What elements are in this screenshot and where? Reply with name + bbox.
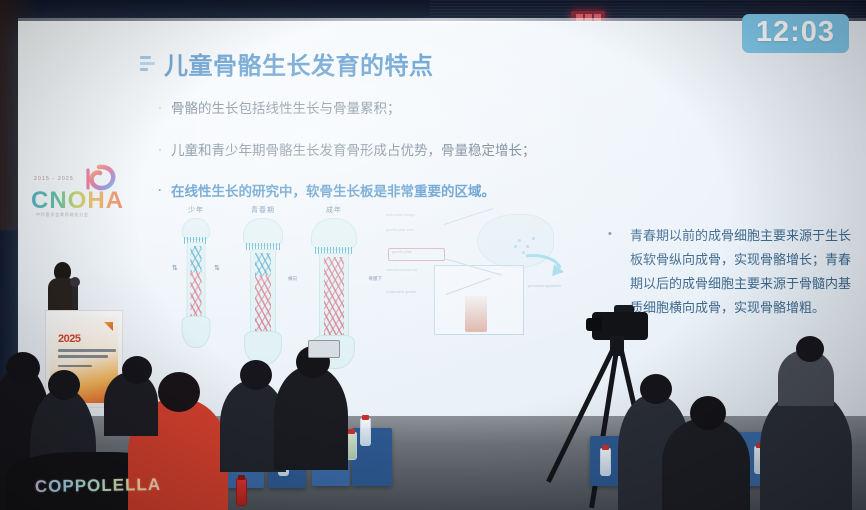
clock-display: 12:03 <box>742 14 849 53</box>
bone-growth-diagram: 少年 ⇅⇅ 青春期 <box>170 205 360 355</box>
figure-caption: periosteal apposition <box>528 284 561 289</box>
bone-illustration: 横向 骨膜下 <box>302 218 366 368</box>
list-item: · 骨骼的生长包括线性生长与骨量累积； <box>158 100 578 118</box>
conference-photo: 12:03 儿童骨骼生长发育的特点 · 骨骼的生长包括线性生长与骨量累积； · … <box>0 0 866 510</box>
bullet-text: 儿童和青少年期骨骼生长发育骨形成占优势，骨量稳定增长； <box>171 142 536 160</box>
bullet-text: 在线性生长的研究中，软骨生长板是非常重要的区域。 <box>171 183 495 201</box>
bone-stage-label: 成年 <box>302 205 366 215</box>
logo-wordmark: CNOHA <box>31 187 124 215</box>
figure-boxed-label: growth plate <box>392 250 412 255</box>
bone-illustration: ⇅⇅ <box>170 218 222 348</box>
title-bars-icon <box>140 54 155 74</box>
figure-panel <box>434 265 524 335</box>
bone-stage-label: 青春期 <box>232 205 294 215</box>
cnoha-logo: 2015 - 2025 CNOHA 中华医学会骨质疏松分会 <box>27 160 127 225</box>
bone-illustration <box>232 218 294 364</box>
right-note-block: • 青春期以前的成骨细胞主要来源于生长板软骨纵向成骨，实现骨骼增长；青春期以后的… <box>608 224 860 320</box>
list-item: · 在线性生长的研究中，软骨生长板是非常重要的区域。 <box>158 183 578 201</box>
bullet-text: 骨骼的生长包括线性生长与骨量累积； <box>171 100 401 118</box>
flow-arrow-icon <box>524 252 566 278</box>
bullet-dot-icon: · <box>158 142 162 160</box>
bone-annotation: 横向 <box>288 276 297 282</box>
logo-years: 2015 - 2025 <box>34 176 74 182</box>
bone-stage-adult: 成年 横向 骨膜下 <box>302 205 366 368</box>
logo-subtitle: 中华医学会骨质疏松分会 <box>36 212 89 218</box>
figure-caption: marrow stromal cell <box>386 268 417 273</box>
right-note-text: 青春期以前的成骨细胞主要来源于生长板软骨纵向成骨，实现骨骼增长；青春期以后的成骨… <box>630 224 860 320</box>
gradient-bar <box>465 296 487 332</box>
list-item: · 儿童和青少年期骨骼生长发育骨形成占优势，骨量稳定增长； <box>158 142 578 160</box>
bullet-dot-icon: · <box>158 183 162 201</box>
bone-stage-puberty: 青春期 <box>232 205 294 364</box>
bullet-dot-icon: • <box>608 224 612 244</box>
page-title: 儿童骨骼生长发育的特点 <box>164 46 434 81</box>
bone-stage-juvenile: 少年 ⇅⇅ <box>170 205 222 348</box>
science-figure: osteoblast lineage growth plate zone gro… <box>372 212 587 342</box>
screen-top-edge <box>18 18 866 22</box>
figure-caption: growth plate zone <box>386 228 414 233</box>
figure-caption: longitudinal growth <box>386 290 416 295</box>
figure-caption: osteoblast lineage <box>386 213 415 218</box>
bullet-dot-icon: · <box>158 100 162 118</box>
slide-title-row: 儿童骨骼生长发育的特点 <box>140 46 434 81</box>
bone-stage-label: 少年 <box>170 205 222 215</box>
